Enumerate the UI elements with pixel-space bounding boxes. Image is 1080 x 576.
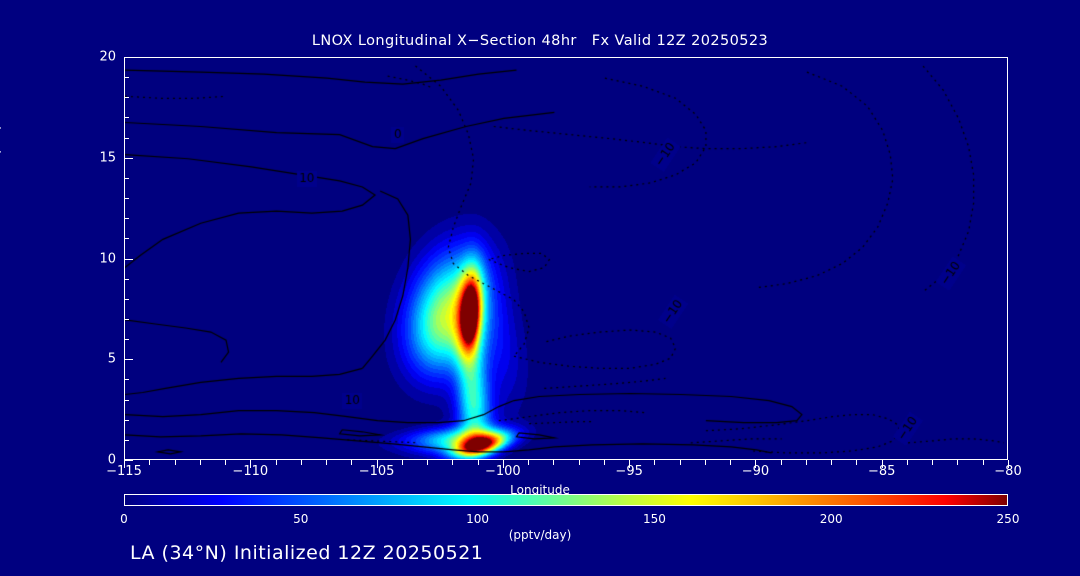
x-tick-minor xyxy=(654,460,655,465)
x-tick-minor xyxy=(907,460,908,465)
y-tick-minor xyxy=(124,97,129,98)
x-tick-major xyxy=(250,460,251,468)
y-tick-label: 20 xyxy=(76,50,116,65)
y-tick-minor xyxy=(124,319,129,320)
x-tick-minor xyxy=(680,460,681,465)
y-tick-label: 5 xyxy=(76,352,116,367)
x-tick-minor xyxy=(831,460,832,465)
x-tick-minor xyxy=(528,460,529,465)
colorbar-unit-label: (pptv/day) xyxy=(0,528,1080,542)
x-tick-minor xyxy=(200,460,201,465)
x-tick-minor xyxy=(553,460,554,465)
colorbar-tick-label: 250 xyxy=(978,512,1038,526)
y-tick-minor xyxy=(124,279,129,280)
x-tick-minor xyxy=(402,460,403,465)
colorbar-tick-label: 200 xyxy=(801,512,861,526)
y-tick-major xyxy=(124,259,133,260)
colorbar-tick-label: 0 xyxy=(94,512,154,526)
y-tick-minor xyxy=(124,379,129,380)
x-tick-minor xyxy=(806,460,807,465)
y-tick-minor xyxy=(124,178,129,179)
x-tick-minor xyxy=(301,460,302,465)
heatmap-canvas xyxy=(125,58,1008,460)
x-tick-major xyxy=(882,460,883,468)
y-tick-major xyxy=(124,460,133,461)
x-tick-major xyxy=(1008,460,1009,468)
y-axis-tick-labels: 05101520 xyxy=(72,57,116,460)
y-tick-minor xyxy=(124,77,129,78)
x-tick-major xyxy=(124,460,125,468)
x-tick-minor xyxy=(932,460,933,465)
y-tick-minor xyxy=(124,400,129,401)
x-tick-major xyxy=(629,460,630,468)
y-tick-minor xyxy=(124,138,129,139)
x-tick-minor xyxy=(856,460,857,465)
x-tick-major xyxy=(377,460,378,468)
x-tick-minor xyxy=(579,460,580,465)
y-tick-minor xyxy=(124,238,129,239)
x-tick-minor xyxy=(781,460,782,465)
x-tick-minor xyxy=(604,460,605,465)
y-tick-minor xyxy=(124,218,129,219)
chart-title: LNOX Longitudinal X−Section 48hr Fx Vali… xyxy=(0,33,1080,49)
y-tick-minor xyxy=(124,198,129,199)
x-tick-major xyxy=(755,460,756,468)
colorbar xyxy=(124,494,1008,506)
x-tick-minor xyxy=(326,460,327,465)
y-tick-minor xyxy=(124,420,129,421)
figure-root: LNOX Longitudinal X−Section 48hr Fx Vali… xyxy=(0,0,1080,576)
y-axis-label: Altitude (km) xyxy=(0,125,3,210)
figure-caption: LA (34°N) Initialized 12Z 20250521 xyxy=(130,542,483,564)
x-tick-minor xyxy=(705,460,706,465)
colorbar-gradient xyxy=(124,494,1008,506)
x-tick-minor xyxy=(351,460,352,465)
y-tick-minor xyxy=(124,117,129,118)
x-tick-minor xyxy=(276,460,277,465)
x-tick-minor xyxy=(175,460,176,465)
x-tick-minor xyxy=(452,460,453,465)
y-tick-minor xyxy=(124,440,129,441)
colorbar-tick-label: 100 xyxy=(448,512,508,526)
y-tick-major xyxy=(124,359,133,360)
x-tick-major xyxy=(503,460,504,468)
x-tick-minor xyxy=(983,460,984,465)
colorbar-tick-label: 50 xyxy=(271,512,331,526)
colorbar-tick-label: 150 xyxy=(624,512,684,526)
y-tick-label: 15 xyxy=(76,150,116,165)
plot-area xyxy=(124,57,1008,460)
x-tick-minor xyxy=(957,460,958,465)
x-tick-minor xyxy=(730,460,731,465)
x-tick-minor xyxy=(225,460,226,465)
y-tick-major xyxy=(124,57,133,58)
x-tick-minor xyxy=(478,460,479,465)
y-tick-label: 10 xyxy=(76,251,116,266)
x-tick-minor xyxy=(149,460,150,465)
y-tick-minor xyxy=(124,299,129,300)
y-tick-minor xyxy=(124,339,129,340)
x-tick-minor xyxy=(427,460,428,465)
y-tick-major xyxy=(124,158,133,159)
